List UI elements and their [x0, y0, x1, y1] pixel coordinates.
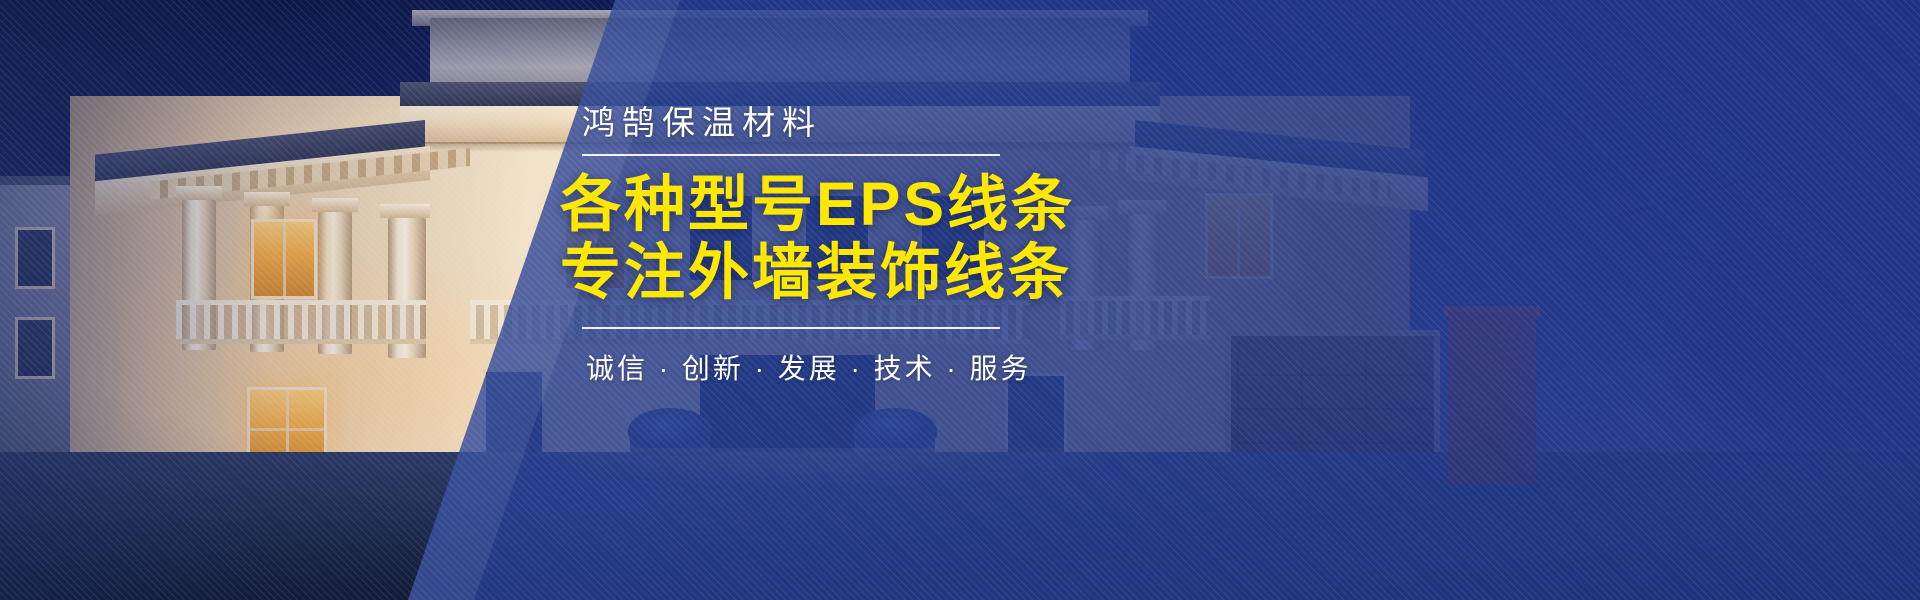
brand-name: 鸿鹄保温材料 — [582, 96, 1260, 144]
headline-line-1: 各种型号EPS线条 — [560, 170, 1260, 238]
divider-top — [582, 154, 1000, 156]
divider-bottom — [582, 327, 1000, 329]
tagline: 诚信 · 创新 · 发展 · 技术 · 服务 — [586, 347, 1260, 387]
headline-line-2: 专注外墙装饰线条 — [560, 238, 1260, 306]
banner-hero: 鸿鹄保温材料 各种型号EPS线条 专注外墙装饰线条 诚信 · 创新 · 发展 ·… — [0, 0, 1920, 600]
banner-text-block: 鸿鹄保温材料 各种型号EPS线条 专注外墙装饰线条 诚信 · 创新 · 发展 ·… — [560, 96, 1260, 387]
